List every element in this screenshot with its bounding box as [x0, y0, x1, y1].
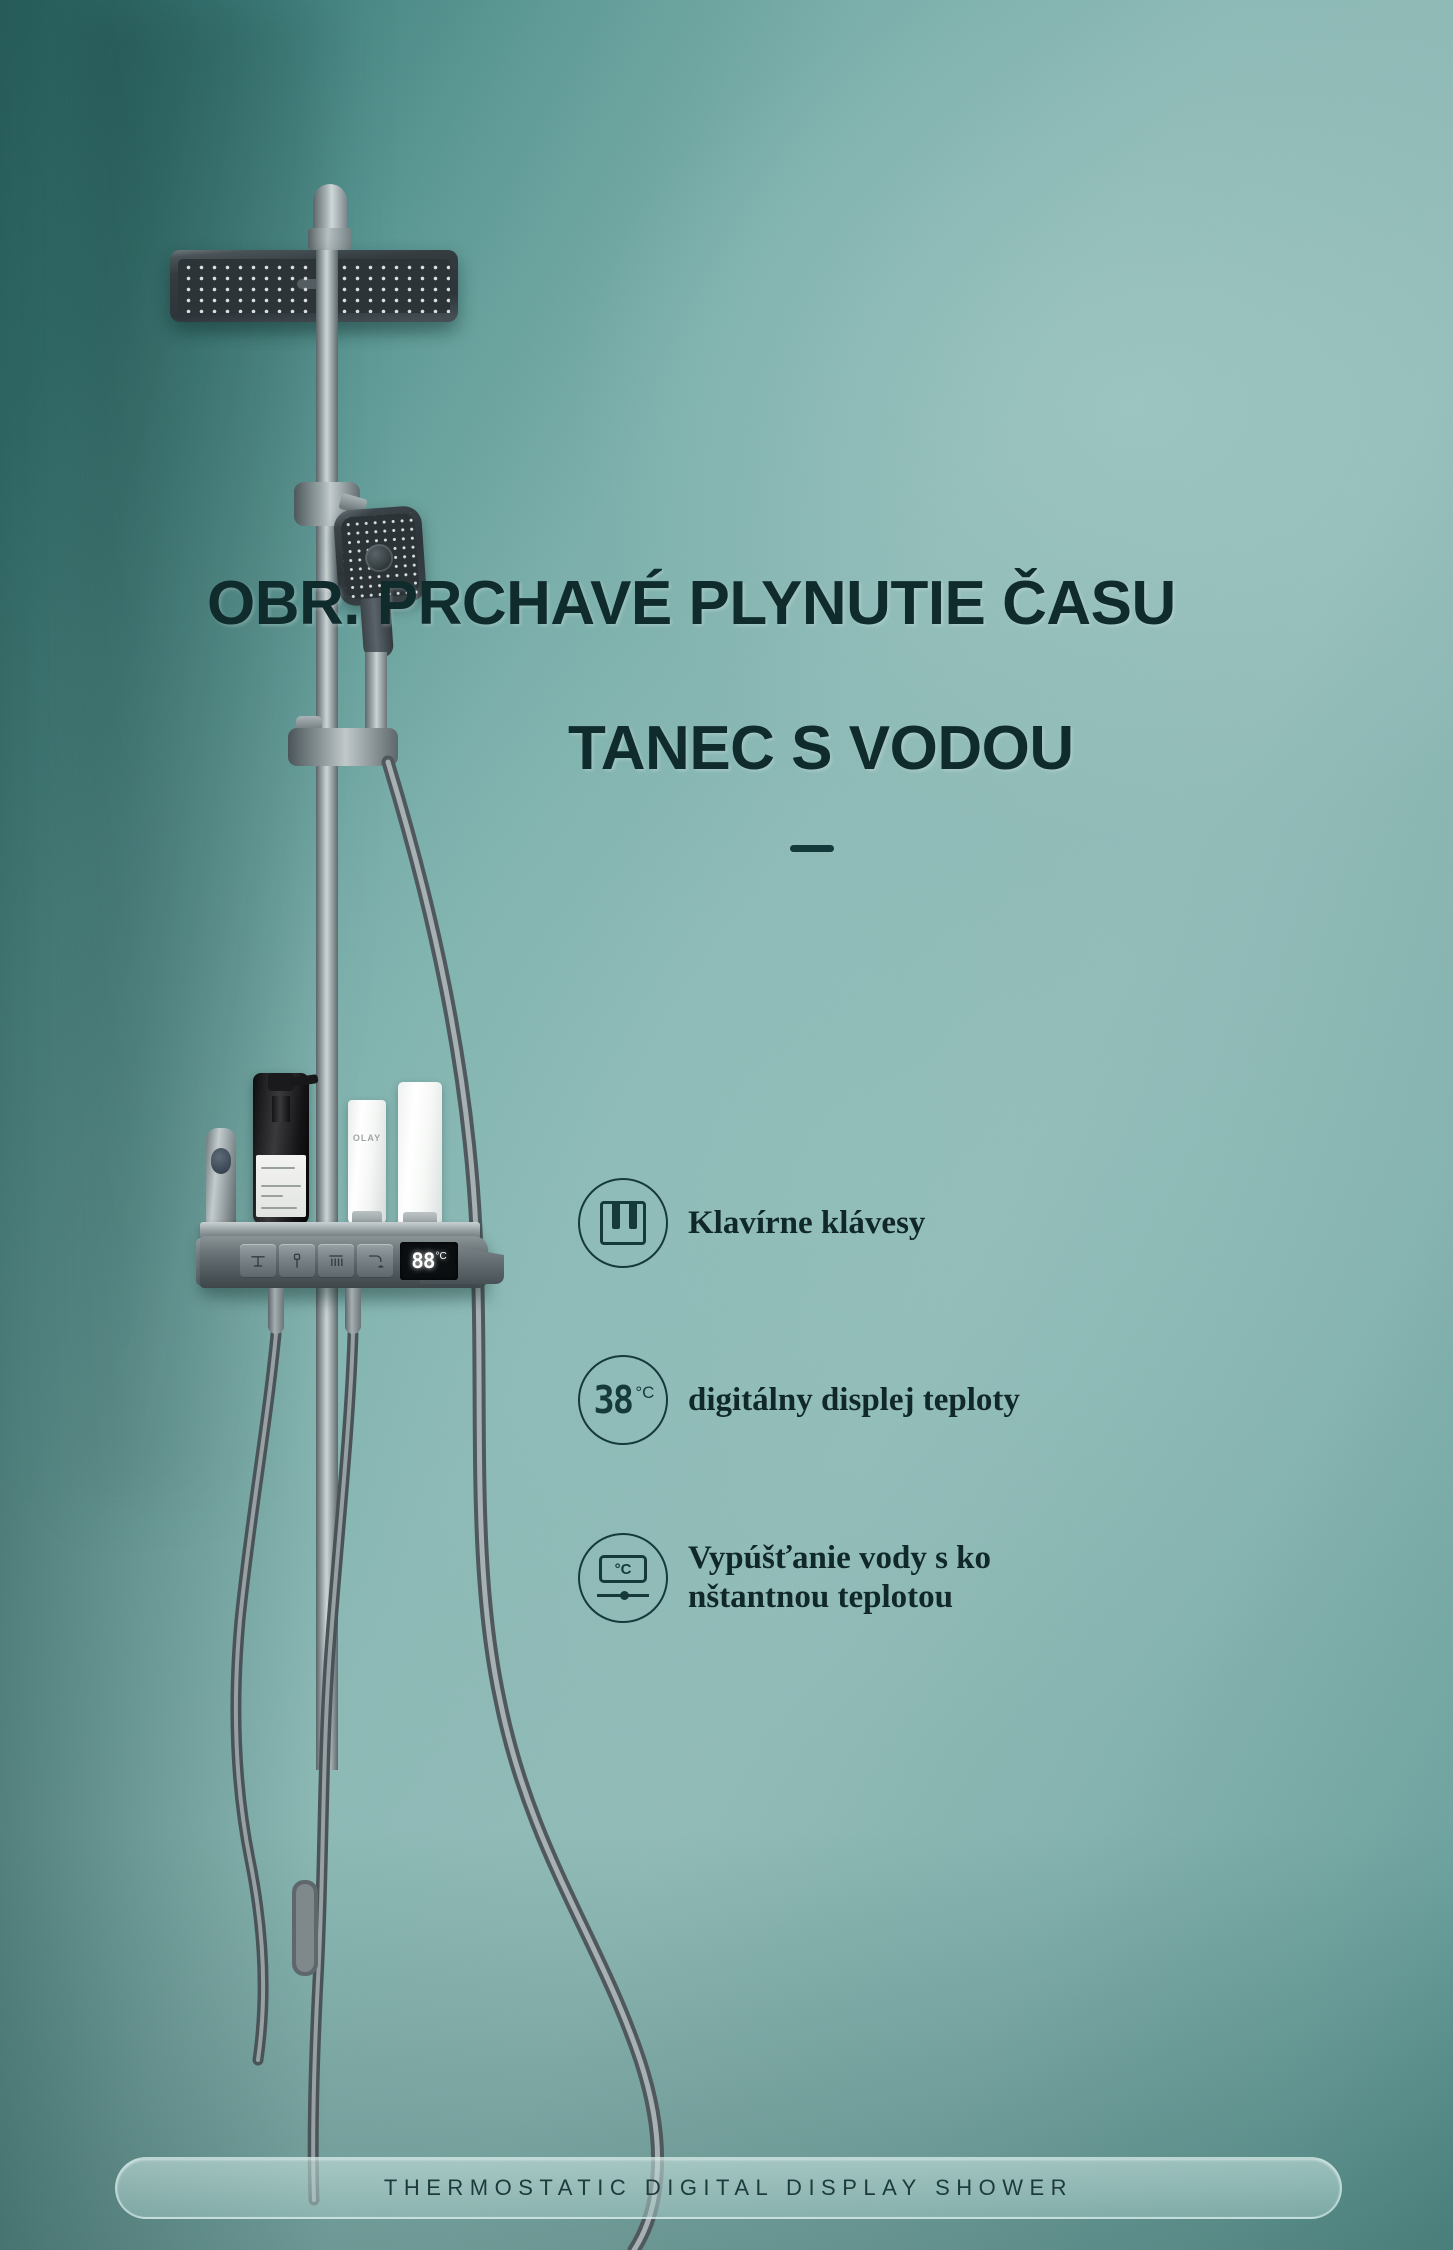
waterfall-button[interactable]	[318, 1244, 354, 1278]
page-headline: OBR. PRCHAVÉ PLYNUTIE ČASU	[207, 568, 1176, 639]
digital-temperature-icon: 38 °C	[592, 1381, 655, 1419]
cosmetic-tube-small	[348, 1100, 386, 1226]
pump-bottle-neck	[272, 1096, 290, 1122]
handheld-shower-button[interactable]	[279, 1244, 315, 1278]
headline-divider	[790, 845, 834, 852]
footer-banner: THERMOSTATIC DIGITAL DISPLAY SHOWER	[115, 2157, 1342, 2219]
thermostat-screen: °C	[599, 1555, 647, 1583]
rain-shower-head	[170, 250, 458, 322]
feature-badge	[578, 1178, 668, 1268]
valve-handle-right[interactable]	[345, 1288, 361, 1334]
feature-item-piano-keys: Klavírne klávesy	[578, 1178, 925, 1268]
thermostat-slider-dot	[620, 1591, 629, 1600]
cosmetic-tube-brand-label: OLAY	[352, 1133, 382, 1143]
slide-bar-holder	[288, 728, 398, 766]
feature-label: Klavírne klávesy	[688, 1204, 925, 1243]
pump-bottle-label	[256, 1155, 306, 1217]
constant-temperature-icon: °C	[597, 1555, 649, 1601]
valve-temperature-value: 88	[411, 1249, 434, 1273]
badge-temperature-unit: °C	[635, 1383, 654, 1403]
cosmetic-tube-large	[398, 1082, 442, 1228]
badge-temperature-value: 38	[593, 1381, 631, 1419]
feature-badge: °C	[578, 1533, 668, 1623]
feature-label: digitálny displej teploty	[688, 1381, 1020, 1420]
metal-dispenser	[206, 1128, 236, 1226]
feature-item-digital-temperature: 38 °C digitálny displej teploty	[578, 1355, 1020, 1445]
valve-temperature-unit: °C	[436, 1251, 447, 1262]
valve-temperature-display: 88 °C	[400, 1242, 458, 1280]
feature-badge: 38 °C	[578, 1355, 668, 1445]
valve-handle-left[interactable]	[268, 1288, 284, 1334]
piano-keys-icon	[600, 1201, 646, 1245]
feature-item-constant-temperature: °C Vypúšťanie vody s ko nštantnou teplot…	[578, 1533, 991, 1623]
metal-dispenser-button	[211, 1148, 231, 1174]
shower-system-photo: OLAY 88 °C	[0, 0, 760, 2250]
footer-banner-text: THERMOSTATIC DIGITAL DISPLAY SHOWER	[384, 2175, 1073, 2201]
feature-label: Vypúšťanie vody s ko nštantnou teplotou	[688, 1539, 991, 1617]
rain-shower-button[interactable]	[240, 1244, 276, 1278]
spout-button[interactable]	[357, 1244, 393, 1278]
rain-head-face	[178, 259, 450, 313]
shower-arm-collar	[308, 228, 352, 250]
page-subheadline: TANEC S VODOU	[568, 713, 1074, 784]
